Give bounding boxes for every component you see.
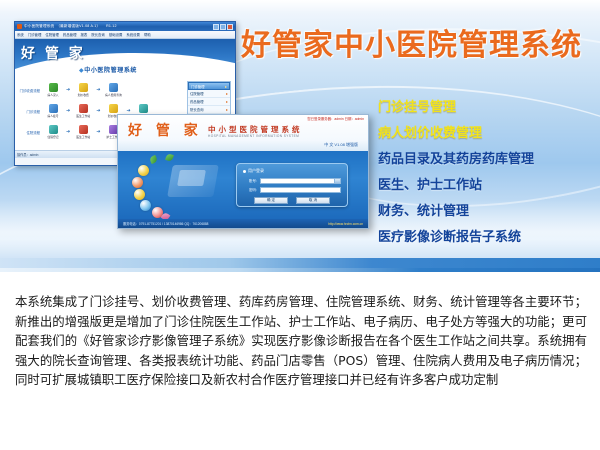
login-logo-text: 好 管 家 <box>128 120 203 140</box>
login-button-row: 确 定 取 消 <box>243 197 341 204</box>
username-label: 账号: <box>243 179 257 184</box>
menu-item-director-query[interactable]: 院长查询 <box>91 32 105 37</box>
app-subtitle: ◆中小医院管理系统 <box>79 65 137 74</box>
feature-list: 门诊挂号管理 病人划价收费管理 药品目录及其药房药库管理 医生、护士工作站 财务… <box>378 99 593 255</box>
arrow-right-icon: ➜ <box>96 88 100 93</box>
arrow-right-icon: ➜ <box>66 88 70 93</box>
radio-icon <box>243 170 246 173</box>
workflow-node-label: 住院登记 <box>47 135 58 139</box>
workflow-node[interactable]: 病人挂号 <box>42 104 64 118</box>
login-title-en: HOSPITAL MANAGEMENT INFORMATION SYSTEM <box>208 134 299 138</box>
password-label: 密码: <box>243 188 257 193</box>
bubble-icon <box>132 177 143 188</box>
registration-icon <box>49 104 58 113</box>
feature-item-patient-billing: 病人划价收费管理 <box>378 125 593 140</box>
leaf-icon <box>149 155 158 164</box>
query-icon <box>109 83 118 92</box>
arrow-right-icon: ➜ <box>96 130 100 135</box>
chevron-right-icon: ▸ <box>226 99 228 104</box>
arrow-right-icon: ➜ <box>66 130 70 135</box>
workflow-row-label: 门诊收费流程 <box>18 88 40 93</box>
leaf-icon <box>165 153 174 162</box>
side-menu-item-drugs[interactable]: 药品管理 ▸ <box>188 98 230 106</box>
close-button[interactable] <box>227 24 233 30</box>
chevron-right-icon: ▸ <box>226 91 228 96</box>
workflow-node-label: 医生工作站 <box>76 114 90 118</box>
side-menu-item-label: 门诊管理 <box>191 84 205 89</box>
page-root: 好管家中小医院管理系统 门诊挂号管理 病人划价收费管理 药品目录及其药房药库管理… <box>0 0 600 450</box>
window-title-text: 中小医院管理系统 （最新增强版V1.08 A.1） R1.12 <box>24 24 211 29</box>
banner-bottom-bar-accent <box>0 268 600 272</box>
window-controls <box>213 24 233 30</box>
workflow-node[interactable]: 划价收费 <box>72 83 94 97</box>
footer-website-link[interactable]: http://www.hrchn.com.cn <box>328 222 363 226</box>
doctor-station-icon <box>79 104 88 113</box>
workflow-node-label: 病人费用查询 <box>105 93 122 97</box>
login-window-header: 您已登录服务器：admin 日期：admin 好 管 家 中小型医院管理系统 H… <box>118 115 368 151</box>
workflow-node-label: 病人挂号 <box>47 114 58 118</box>
chevron-down-icon[interactable] <box>334 179 340 183</box>
feature-item-finance-statistics: 财务、统计管理 <box>378 203 593 218</box>
arrow-right-icon: ➜ <box>96 109 100 114</box>
username-field-row: 账号: <box>243 178 341 184</box>
workflow-row-label: 门诊流程 <box>18 109 40 114</box>
app-subtitle-text: 中小医院管理系统 <box>84 68 137 74</box>
pricing-icon <box>79 83 88 92</box>
username-input[interactable] <box>260 178 341 184</box>
menu-item-inpatient[interactable]: 住院管理 <box>45 32 59 37</box>
password-input[interactable] <box>260 187 341 193</box>
menu-item-basic-settings[interactable]: 基础设置 <box>109 32 123 37</box>
side-menu-item-outpatient[interactable]: 门诊管理 ▸ <box>188 82 230 90</box>
pricing-icon <box>109 104 118 113</box>
workflow-node[interactable]: 病人录入 <box>42 83 64 97</box>
login-version-label: 中 文 V1.08 增强版 <box>324 142 358 148</box>
doctor-station-icon <box>79 125 88 134</box>
side-menu-item-director-query[interactable]: 院长查询 ▸ <box>188 106 230 114</box>
bubble-icon <box>138 165 149 176</box>
admission-icon <box>49 125 58 134</box>
feature-item-drug-catalog: 药品目录及其药房药库管理 <box>378 151 593 166</box>
confirm-button[interactable]: 确 定 <box>254 197 288 204</box>
workflow-row: 门诊收费流程 病人录入 ➜ 划价收费 ➜ 病人费用查询 <box>18 83 168 97</box>
side-menu-item-label: 院长查询 <box>190 107 204 112</box>
bubble-icon <box>134 189 145 200</box>
app-logo-text: 好 管 家 <box>21 43 86 63</box>
menu-item-system[interactable]: 系统 <box>17 32 24 37</box>
password-field-row: 密码: <box>243 187 341 193</box>
workflow-node[interactable]: 医生工作站 <box>72 125 94 139</box>
chevron-right-icon: ▸ <box>225 84 227 89</box>
side-menu-item-label: 住院管理 <box>190 91 204 96</box>
cancel-button[interactable]: 取 消 <box>296 197 330 204</box>
workflow-node[interactable]: 病人费用查询 <box>102 83 124 97</box>
login-top-note: 您已登录服务器：admin 日期：admin <box>307 116 364 121</box>
arrow-right-icon: ➜ <box>126 109 130 114</box>
arrow-right-icon: ➜ <box>66 109 70 114</box>
login-form-title: 用户登录 <box>243 168 341 174</box>
login-form: 用户登录 账号: 密码: 确 定 取 消 <box>236 163 348 207</box>
login-form-title-label: 用户登录 <box>248 168 264 174</box>
workflow-node[interactable]: 医生工作站 <box>72 104 94 118</box>
menu-item-outpatient[interactable]: 门诊管理 <box>28 32 42 37</box>
patient-entry-icon <box>49 83 58 92</box>
description-paragraph: 本系统集成了门诊挂号、划价收费管理、药库药房管理、住院管理系统、财务、统计管理等… <box>15 292 587 390</box>
workflow-node-label: 病人录入 <box>47 93 58 97</box>
decorative-bubbles <box>126 153 178 219</box>
side-menu-item-label: 药品管理 <box>190 99 204 104</box>
window-title-bar: 中小医院管理系统 （最新增强版V1.08 A.1） R1.12 <box>15 22 235 31</box>
maximize-button[interactable] <box>220 24 226 30</box>
query-icon <box>139 104 148 113</box>
menu-item-help[interactable]: 帮助 <box>144 32 151 37</box>
workflow-node-label: 划价收费 <box>78 93 89 97</box>
workflow-node-label: 医生工作站 <box>76 135 90 139</box>
login-window-footer: 服务电话：0791-87751201 / 13870146986 QQ：7612… <box>118 219 368 228</box>
menu-item-drugs[interactable]: 药品管理 <box>63 32 77 37</box>
screenshot-login-window: 您已登录服务器：admin 日期：admin 好 管 家 中小型医院管理系统 H… <box>117 114 369 229</box>
page-title: 好管家中小医院管理系统 <box>241 20 582 64</box>
feature-item-outpatient-registration: 门诊挂号管理 <box>378 99 593 114</box>
menu-item-system-settings[interactable]: 系统设置 <box>126 32 140 37</box>
footer-contact: 服务电话：0791-87751201 / 13870146986 QQ：7612… <box>123 221 208 226</box>
side-menu-item-inpatient[interactable]: 住院管理 ▸ <box>188 90 230 98</box>
login-window-body: 用户登录 账号: 密码: 确 定 取 消 <box>118 151 368 219</box>
app-icon <box>17 24 22 29</box>
feature-item-medical-imaging: 医疗影像诊断报告子系统 <box>378 229 593 244</box>
menu-bar: 系统 门诊管理 住院管理 药品管理 报表 院长查询 基础设置 系统设置 帮助 <box>15 31 235 39</box>
workflow-node[interactable]: 住院登记 <box>42 125 64 139</box>
minimize-button[interactable] <box>213 24 219 30</box>
workflow-row-label: 住院流程 <box>18 130 40 135</box>
feature-item-doctor-nurse-station: 医生、护士工作站 <box>378 177 593 192</box>
chevron-right-icon: ▸ <box>226 107 228 112</box>
bubble-icon <box>140 200 151 211</box>
menu-item-reports[interactable]: 报表 <box>80 32 87 37</box>
